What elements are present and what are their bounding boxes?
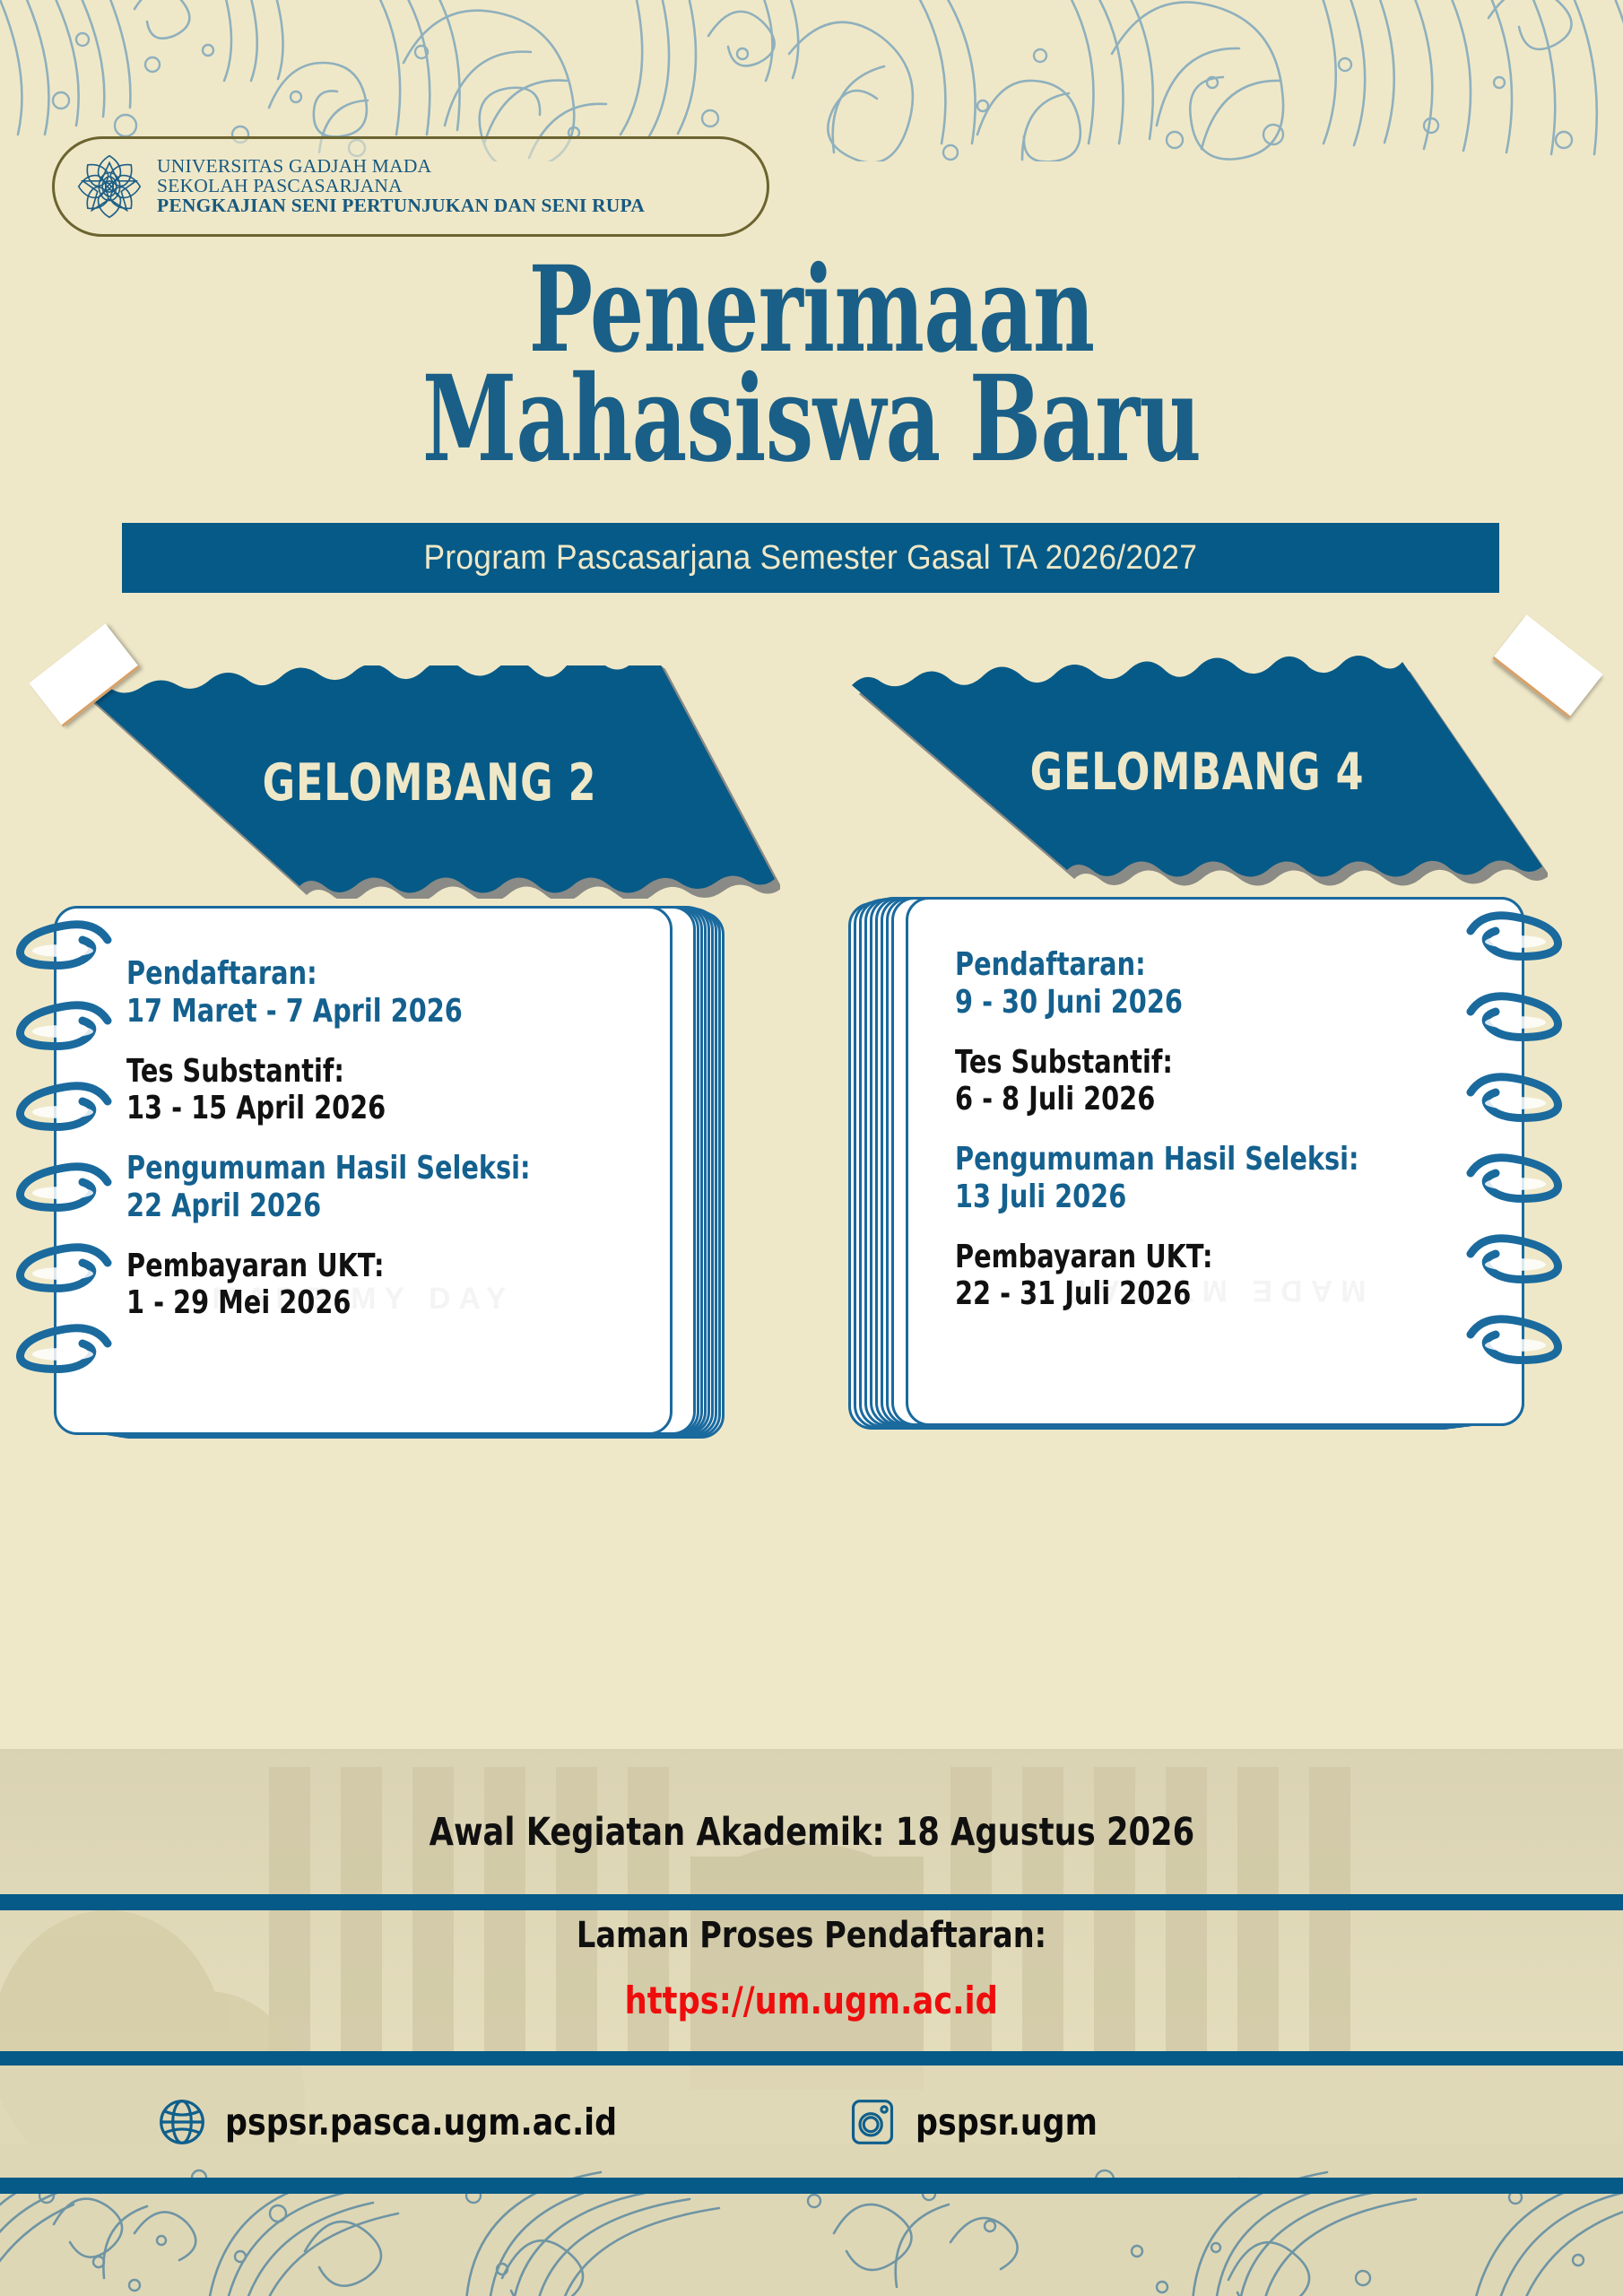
institution-logo-box: UNIVERSITAS GADJAH MADA SEKOLAH PASCASAR… (52, 136, 769, 237)
page-title: Penerimaan Mahasiswa Baru (0, 258, 1623, 472)
schedule-entry: Pembayaran UKT: 22 - 31 Juli 2026 (955, 1239, 1475, 1314)
footer-socials: pspsr.pasca.ugm.ac.id pspsr.ugm (0, 2066, 1623, 2178)
entry-value: 9 - 30 Juni 2026 (955, 984, 1371, 1022)
gelombang-4-label: GELOMBANG 4 (924, 743, 1471, 802)
registration-url-link[interactable]: https://um.ugm.ac.id (625, 1979, 998, 2022)
logo-line-school: SEKOLAH PASCASARJANA (157, 177, 645, 196)
schedule-card-gelombang-2: MADE MY DAY Pendaftaran: 17 Maret - 7 Ap… (54, 906, 735, 1435)
subtitle-text: Program Pascasarjana Semester Gasal TA 2… (424, 539, 1198, 578)
entry-value: 6 - 8 Juli 2026 (955, 1081, 1371, 1118)
schedule-entry: Pembayaran UKT: 1 - 29 Mei 2026 (126, 1248, 647, 1323)
social-item-instagram[interactable]: pspsr.ugm (847, 2097, 1130, 2147)
instagram-icon (847, 2097, 898, 2147)
logo-line-university: UNIVERSITAS GADJAH MADA (157, 157, 645, 177)
card-body-left: MADE MY DAY Pendaftaran: 17 Maret - 7 Ap… (54, 906, 673, 1435)
poster-root: UNIVERSITAS GADJAH MADA SEKOLAH PASCASAR… (0, 0, 1623, 2296)
page-title-line-2: Mahasiswa Baru (227, 368, 1395, 472)
schedule-card-gelombang-4: MADE MY DAY Pendaftaran: 9 - 30 Juni 202… (843, 897, 1524, 1426)
gelombang-2-label: GELOMBANG 2 (156, 753, 703, 813)
spiral-binding-right (1462, 897, 1569, 1426)
spiral-binding-left (9, 906, 117, 1435)
entry-label: Pendaftaran: (955, 946, 1371, 984)
entry-value: 17 Maret - 7 April 2026 (126, 993, 542, 1031)
entry-value: 13 - 15 April 2026 (126, 1090, 542, 1127)
entry-label: Tes Substantif: (955, 1044, 1371, 1082)
entry-value: 1 - 29 Mei 2026 (126, 1284, 542, 1322)
entry-label: Pengumuman Hasil Seleksi: (955, 1141, 1371, 1178)
academic-start-bar: Awal Kegiatan Akademik: 18 Agustus 2026 (0, 1785, 1623, 1880)
divider-rule-middle (0, 2051, 1623, 2066)
entry-value: 22 - 31 Juli 2026 (955, 1275, 1371, 1313)
schedule-entry: Tes Substantif: 6 - 8 Juli 2026 (955, 1044, 1475, 1119)
logo-line-program: PENGKAJIAN SENI PERTUNJUKAN DAN SENI RUP… (157, 196, 645, 216)
card-body-right: MADE MY DAY Pendaftaran: 9 - 30 Juni 202… (906, 897, 1524, 1426)
schedule-entry: Pendaftaran: 17 Maret - 7 April 2026 (126, 955, 647, 1031)
registration-label: Laman Proses Pendaftaran: (577, 1915, 1046, 1956)
page-title-line-1: Penerimaan (227, 258, 1395, 362)
website-handle[interactable]: pspsr.pasca.ugm.ac.id (225, 2100, 617, 2144)
divider-rule-top (0, 1894, 1623, 1910)
entry-label: Tes Substantif: (126, 1053, 542, 1091)
registration-url-row[interactable]: https://um.ugm.ac.id (0, 1979, 1623, 2022)
entry-value: 22 April 2026 (126, 1187, 542, 1225)
registration-label-row: Laman Proses Pendaftaran: (0, 1915, 1623, 1956)
social-item-website[interactable]: pspsr.pasca.ugm.ac.id (157, 2097, 686, 2147)
entry-label: Pembayaran UKT: (955, 1239, 1371, 1276)
subtitle-banner: Program Pascasarjana Semester Gasal TA 2… (122, 523, 1499, 593)
entry-label: Pendaftaran: (126, 955, 542, 993)
schedule-entry: Pendaftaran: 9 - 30 Juni 2026 (955, 946, 1475, 1022)
entry-value: 13 Juli 2026 (955, 1178, 1371, 1216)
wave-banner-gelombang-2: GELOMBANG 2 (79, 665, 780, 899)
entry-label: Pembayaran UKT: (126, 1248, 542, 1285)
divider-rule-bottom (0, 2178, 1623, 2194)
academic-start-text: Awal Kegiatan Akademik: 18 Agustus 2026 (429, 1810, 1193, 1855)
entry-label: Pengumuman Hasil Seleksi: (126, 1150, 542, 1187)
ugm-gadjah-mada-seal-icon (74, 152, 144, 222)
globe-icon (157, 2097, 207, 2147)
instagram-handle[interactable]: pspsr.ugm (916, 2100, 1098, 2144)
schedule-entry: Pengumuman Hasil Seleksi: 22 April 2026 (126, 1150, 647, 1225)
wave-banner-gelombang-4: GELOMBANG 4 (846, 655, 1548, 888)
schedule-entry: Pengumuman Hasil Seleksi: 13 Juli 2026 (955, 1141, 1475, 1216)
schedule-entry: Tes Substantif: 13 - 15 April 2026 (126, 1053, 647, 1128)
